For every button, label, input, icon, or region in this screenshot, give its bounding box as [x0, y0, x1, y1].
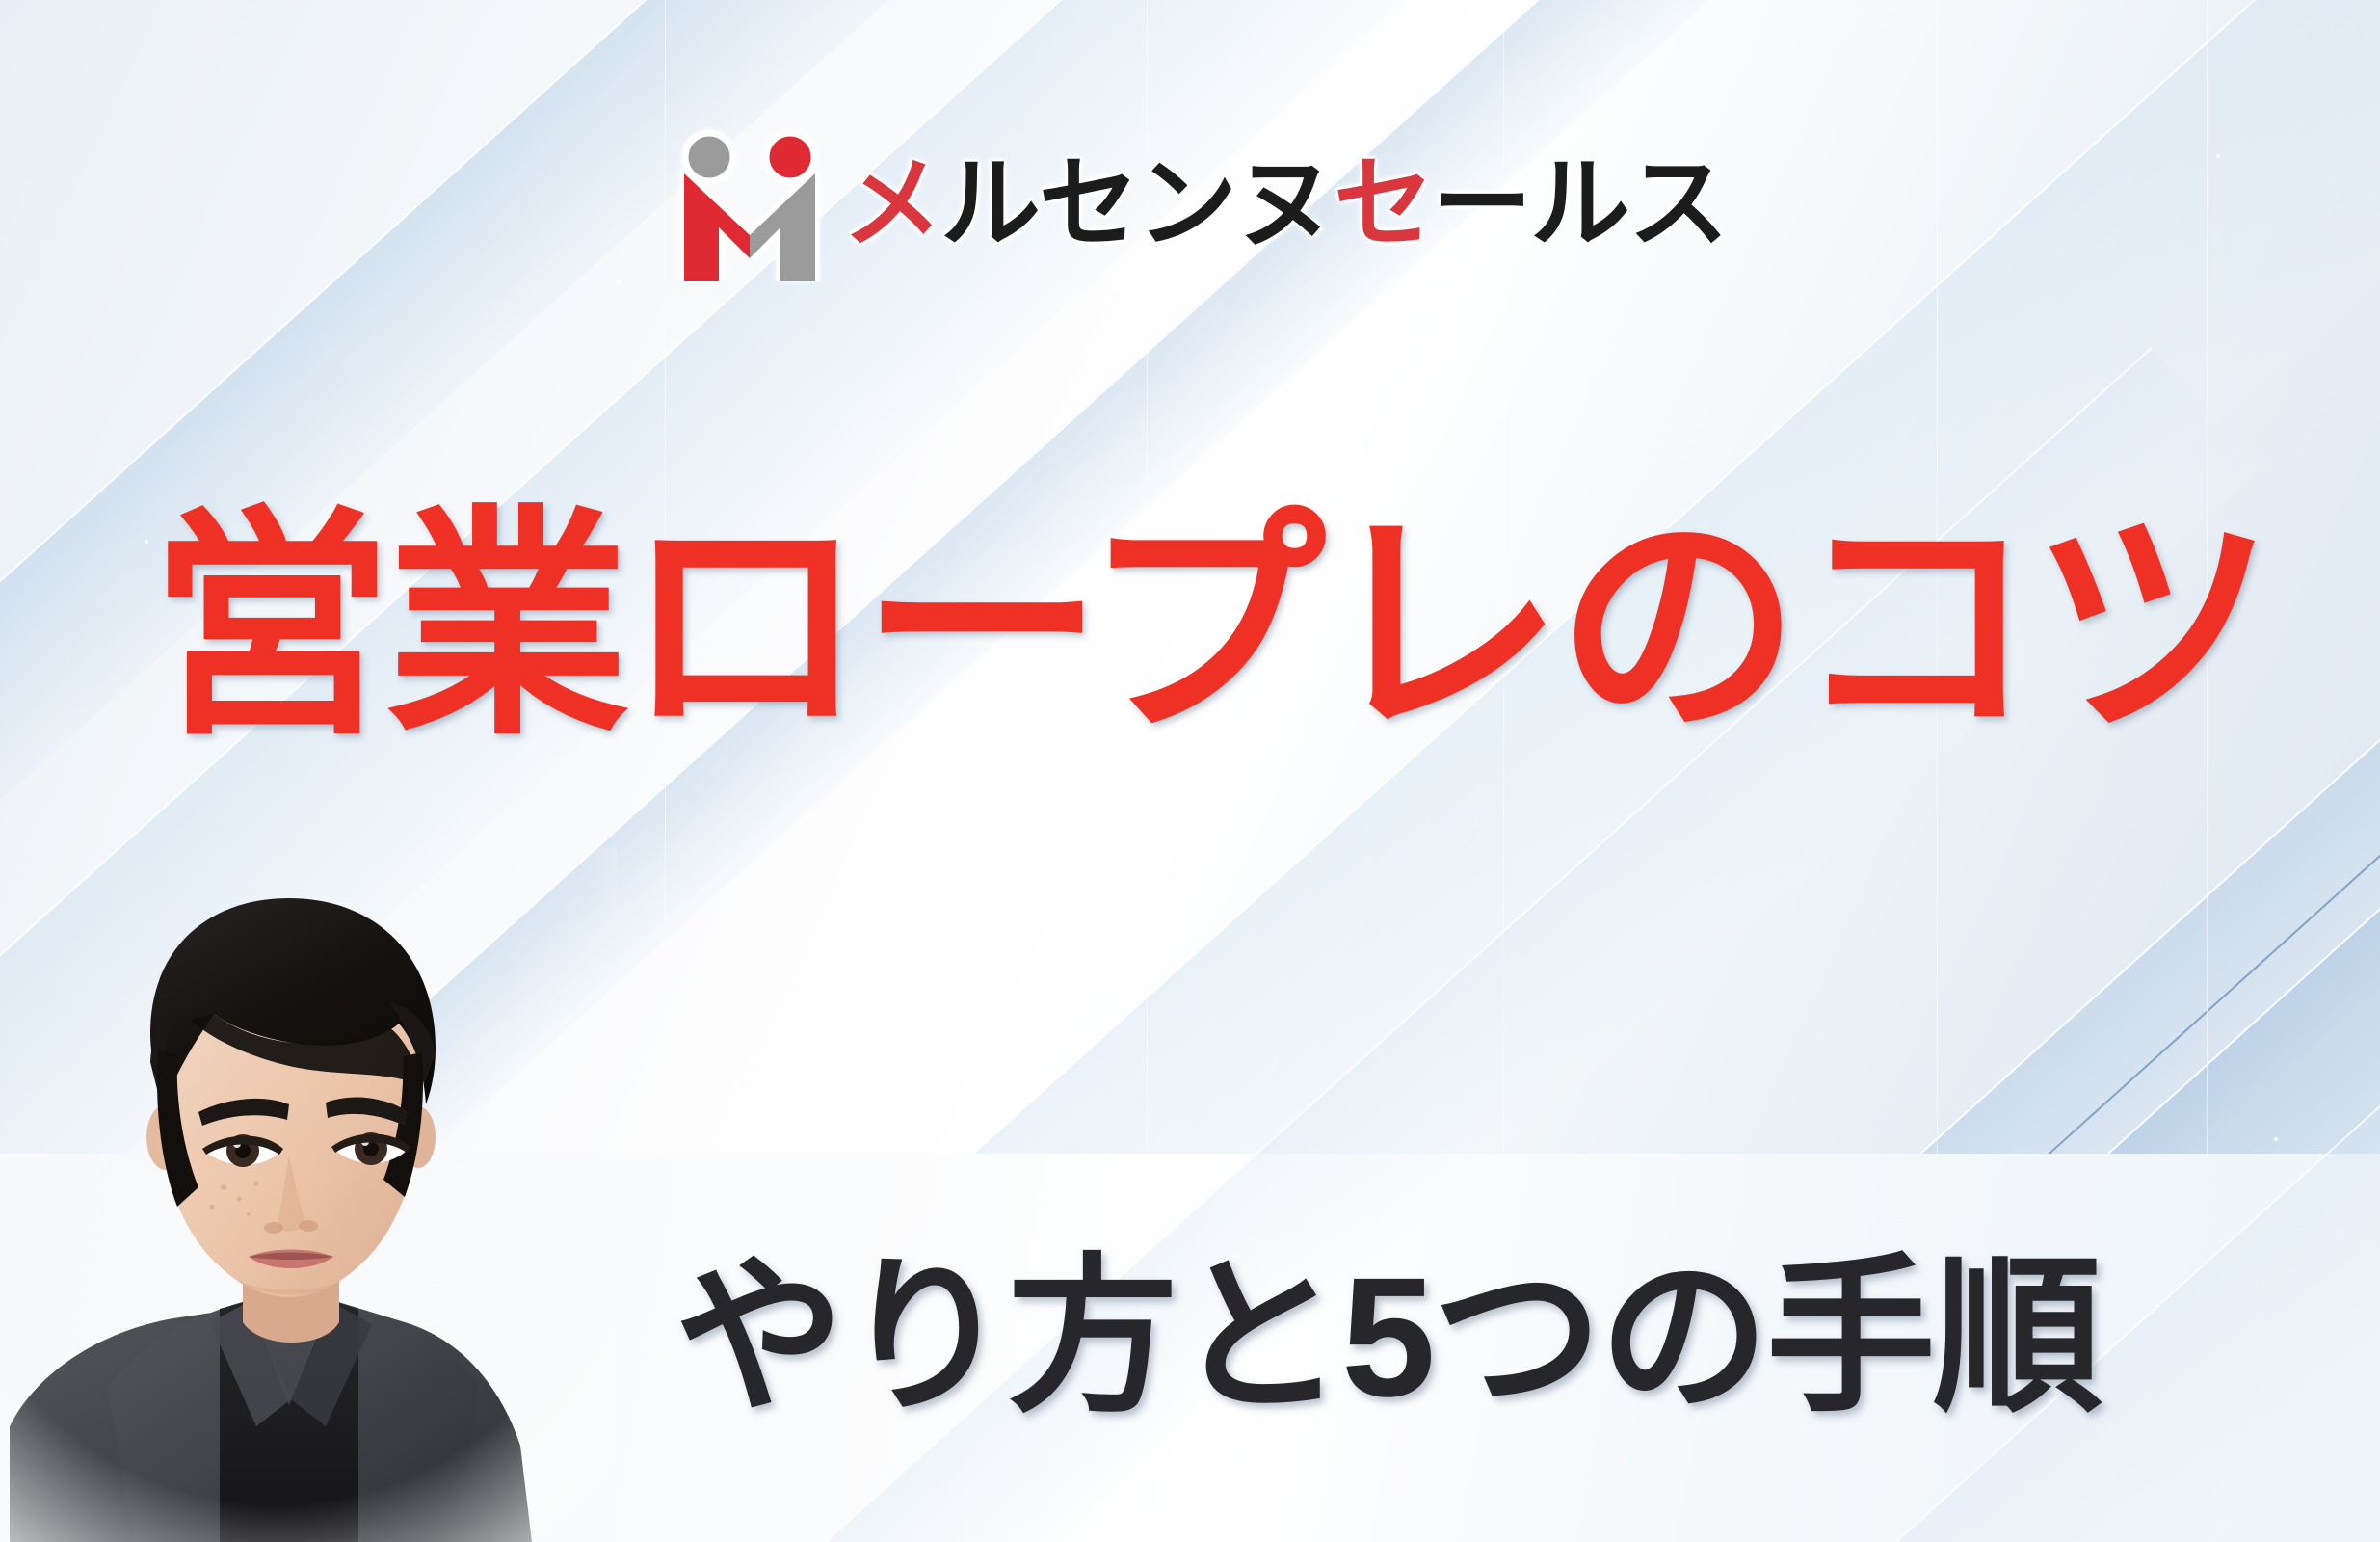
wordmark-part-3: ールス — [1432, 148, 1727, 260]
page-subtitle: やり方と5つの手順 — [674, 1253, 2120, 1422]
thumbnail-canvas: メルセンヌセールス 営業ロープレのコツ やり方と5つの手順 — [0, 0, 2380, 1542]
businessman-portrait — [0, 848, 617, 1542]
wordmark-part-0: メ — [842, 148, 940, 260]
page-title: 営業ロープレのコツ — [149, 506, 2269, 749]
brand-logo[interactable]: メルセンヌセールス — [674, 127, 1727, 281]
wordmark-part-1: ルセンヌ — [940, 148, 1334, 260]
brand-wordmark: メルセンヌセールス — [842, 154, 1727, 254]
mersenne-handshake-m-logo-icon — [674, 127, 825, 281]
wordmark-part-2: セ — [1334, 148, 1432, 260]
